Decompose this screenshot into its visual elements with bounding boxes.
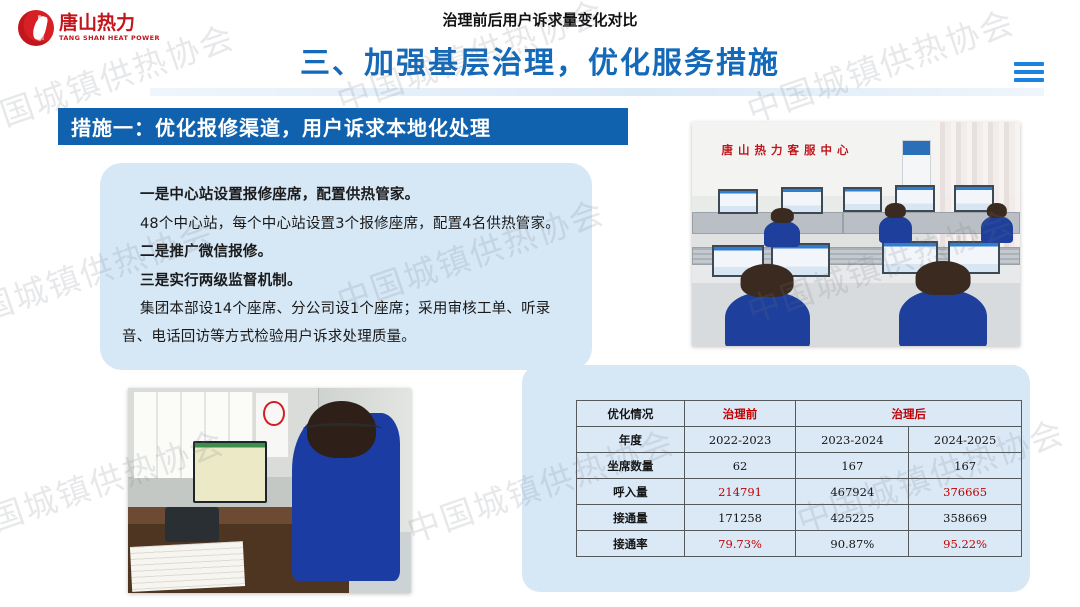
title-divider <box>150 88 1044 96</box>
detail-line-4: 三是实行两级监督机制。 <box>122 267 576 296</box>
headset-operator <box>292 413 400 581</box>
cell-answered-1: 425225 <box>796 505 909 531</box>
hamburger-bar-3 <box>1014 78 1044 82</box>
cell-answered-0: 171258 <box>684 505 796 531</box>
cell-rate-2: 95.22% <box>909 531 1022 557</box>
measure-banner: 措施一：优化报修渠道，用户诉求本地化处理 <box>58 108 628 145</box>
cell-seats-2: 167 <box>909 453 1022 479</box>
cell-seats-0: 62 <box>684 453 796 479</box>
operator-back-3 <box>981 216 1014 243</box>
header-cell-situation: 优化情况 <box>577 401 685 427</box>
call-center-office-photo: 唐山热力客服中心 <box>692 122 1020 346</box>
detail-line-3: 二是推广微信报修。 <box>122 238 576 267</box>
page-title: 三、加强基层治理，优化服务措施 <box>0 38 1080 82</box>
hamburger-icon[interactable] <box>1014 62 1044 82</box>
cell-year-0: 2022-2023 <box>684 427 796 453</box>
call-center-operator-photo <box>128 388 411 593</box>
paper-documents <box>130 541 245 592</box>
monitor-1 <box>718 189 757 214</box>
row-label-incoming: 呼入量 <box>577 479 685 505</box>
cell-rate-0: 79.73% <box>684 531 796 557</box>
row-label-answered: 接通量 <box>577 505 685 531</box>
hamburger-bar-2 <box>1014 70 1044 74</box>
office-wall-sign: 唐山热力客服中心 <box>722 142 854 158</box>
comparison-table-title: 治理前后用户诉求量变化对比 <box>0 9 1080 30</box>
cell-incoming-2: 376665 <box>909 479 1022 505</box>
operator-back-1 <box>764 221 800 248</box>
cell-year-2: 2024-2025 <box>909 427 1022 453</box>
row-label-year: 年度 <box>577 427 685 453</box>
row-label-rate: 接通率 <box>577 531 685 557</box>
operator-front-2 <box>899 290 988 346</box>
header-cell-before: 治理前 <box>684 401 796 427</box>
table-header-row: 优化情况 治理前 治理后 <box>577 401 1022 427</box>
cell-seats-1: 167 <box>796 453 909 479</box>
cell-year-1: 2023-2024 <box>796 427 909 453</box>
measure-detail-card: 一是中心站设置报修座席，配置供热管家。 48个中心站，每个中心站设置3个报修座席… <box>100 163 592 370</box>
detail-line-5: 集团本部设14个座席、分公司设1个座席；采用审核工单、听录音、电话回访等方式检验… <box>122 295 576 351</box>
header-cell-after: 治理后 <box>796 401 1022 427</box>
hamburger-bar-1 <box>1014 62 1044 66</box>
cell-incoming-1: 467924 <box>796 479 909 505</box>
operator-front-1 <box>725 292 810 346</box>
cell-answered-2: 358669 <box>909 505 1022 531</box>
table-row: 呼入量 214791 467924 376665 <box>577 479 1022 505</box>
desk-phone-icon <box>165 507 219 542</box>
monitor-3 <box>843 187 882 212</box>
table-row: 接通率 79.73% 90.87% 95.22% <box>577 531 1022 557</box>
table-row: 接通量 171258 425225 358669 <box>577 505 1022 531</box>
measure-banner-label: 措施一：优化报修渠道，用户诉求本地化处理 <box>71 112 491 141</box>
cell-incoming-0: 214791 <box>684 479 796 505</box>
detail-line-2: 48个中心站，每个中心站设置3个报修座席，配置4名供热管家。 <box>122 210 576 239</box>
operator-scene <box>128 388 411 593</box>
brand-name-cn: 唐山热力 <box>59 14 160 34</box>
cell-rate-1: 90.87% <box>796 531 909 557</box>
desktop-monitor <box>193 441 267 503</box>
comparison-table-body: 优化情况 治理前 治理后 年度 2022-2023 2023-2024 2024… <box>577 401 1022 557</box>
operator-back-2 <box>879 216 912 243</box>
detail-line-1: 一是中心站设置报修座席，配置供热管家。 <box>122 181 576 210</box>
row-label-seats: 坐席数量 <box>577 453 685 479</box>
table-row: 年度 2022-2023 2023-2024 2024-2025 <box>577 427 1022 453</box>
table-row: 坐席数量 62 167 167 <box>577 453 1022 479</box>
comparison-table: 优化情况 治理前 治理后 年度 2022-2023 2023-2024 2024… <box>576 400 1022 557</box>
office-scene: 唐山热力客服中心 <box>692 122 1020 346</box>
